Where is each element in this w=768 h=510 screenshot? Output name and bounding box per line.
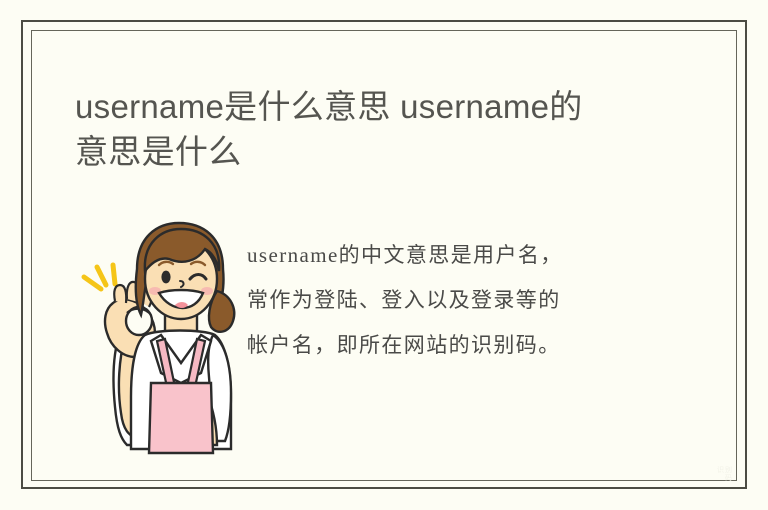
- eye-open: [161, 271, 170, 284]
- watermark: 识别码: [717, 467, 733, 483]
- sparkle-icon: [84, 265, 115, 289]
- article-content: username的中文意思是用户名，常作为登陆、登入以及登录等的帐户名，即所在网…: [75, 217, 715, 467]
- illustration-svg: [75, 217, 245, 462]
- article-body-line-3: 帐户名，即所在网站的识别码。: [247, 333, 561, 357]
- article-body-line-1: username的中文意思是用户名，: [247, 243, 563, 267]
- article-body: username的中文意思是用户名，常作为登陆、登入以及登录等的帐户名，即所在网…: [247, 233, 697, 368]
- apron: [149, 383, 213, 453]
- article-card-page: username是什么意思 username的意思是什么: [0, 0, 768, 510]
- page-title-line-1: username是什么意思 username的: [75, 88, 583, 125]
- page-title-line-2: 意思是什么: [75, 133, 242, 170]
- page-title: username是什么意思 username的意思是什么: [75, 84, 715, 174]
- watermark-line-2: 码: [725, 475, 733, 482]
- article-body-line-2: 常作为登陆、登入以及登录等的: [247, 288, 561, 312]
- watermark-line-1: 识别: [717, 467, 733, 474]
- outer-frame-border: username是什么意思 username的意思是什么: [21, 20, 747, 489]
- winking-woman-ok-gesture-icon: [75, 217, 245, 462]
